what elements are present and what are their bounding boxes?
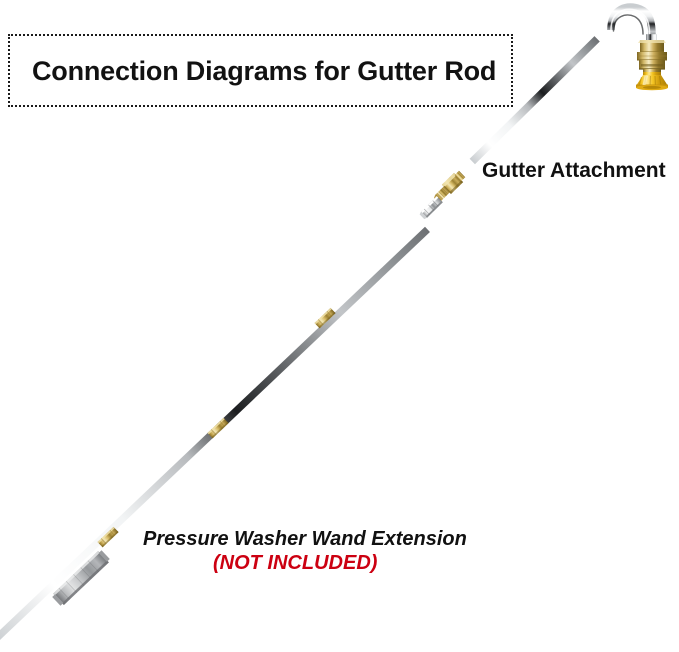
page-title: Connection Diagrams for Gutter Rod xyxy=(32,56,496,87)
gutter-nozzle-tip xyxy=(636,72,668,90)
extension-joint-middle xyxy=(208,418,229,439)
diagram-canvas: Connection Diagrams for Gutter Rod Gutte… xyxy=(0,0,679,652)
title-box: Connection Diagrams for Gutter Rod xyxy=(8,34,513,107)
gutter-u-bend-tube xyxy=(611,7,657,42)
label-wand-extension: Pressure Washer Wand Extension xyxy=(143,528,467,551)
label-gutter-attachment: Gutter Attachment xyxy=(482,159,666,183)
gutter-brass-coupler xyxy=(637,40,667,73)
quick-connect-socket xyxy=(419,196,443,220)
label-not-included: (NOT INCLUDED) xyxy=(213,552,377,575)
